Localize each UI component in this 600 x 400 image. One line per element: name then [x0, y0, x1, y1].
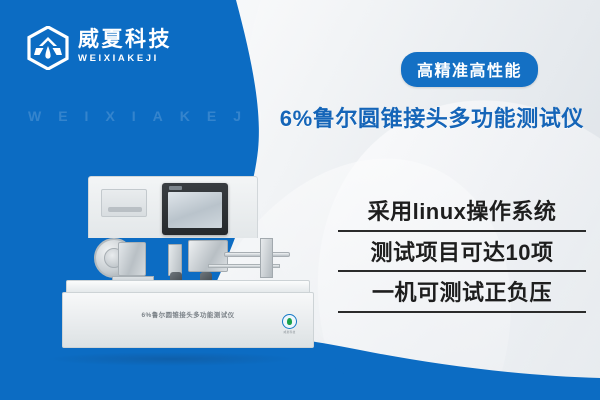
- machine-back-housing: [88, 176, 258, 238]
- brand-name-cn: 威夏科技: [78, 29, 172, 51]
- certification-seal: 威夏科技: [280, 313, 299, 335]
- feature-label: 采用linux操作系统: [338, 198, 586, 226]
- product-image: 6%鲁尔圆锥接头多功能测试仪 威夏科技: [62, 176, 314, 366]
- touch-panel-icon: [162, 183, 228, 235]
- brand-name-en: WEIXIAKEJI: [78, 52, 172, 66]
- highlight-badge: 高精准高性能: [401, 52, 538, 87]
- brand-watermark: WEIXIAKEJI: [28, 108, 279, 124]
- machine-side-plate: [101, 189, 147, 217]
- feature-label: 一机可测试正负压: [338, 279, 586, 307]
- test-rod-upper: [224, 252, 290, 257]
- promo-banner: WEIXIAKEJI 威夏科技 WEIXIAKEJI 高精准高性能 6%鲁尔圆锥…: [0, 0, 600, 400]
- screen-brand-strip: [169, 186, 182, 190]
- dial-body-block: [118, 242, 146, 276]
- feature-divider: [338, 270, 586, 272]
- brand-logo-text: 威夏科技 WEIXIAKEJI: [78, 29, 172, 66]
- feature-list: 采用linux操作系统 测试项目可达10项 一机可测试正负压: [338, 196, 586, 318]
- seal-ring-icon: [282, 314, 297, 329]
- feature-item: 一机可测试正负压: [338, 277, 586, 318]
- feature-label: 测试项目可达10项: [338, 239, 586, 267]
- hexagon-emblem-icon: [27, 26, 69, 70]
- screen-display: [168, 192, 222, 228]
- product-headline: 6%鲁尔圆锥接头多功能测试仪: [280, 101, 584, 133]
- clamp-right-post: [260, 238, 273, 278]
- seal-caption: 威夏科技: [284, 330, 296, 334]
- machine-base-cabinet: 6%鲁尔圆锥接头多功能测试仪 威夏科技: [62, 292, 314, 348]
- feature-item: 测试项目可达10项: [338, 237, 586, 278]
- brand-logo: 威夏科技 WEIXIAKEJI: [27, 26, 172, 70]
- feature-divider: [338, 230, 586, 232]
- feature-item: 采用linux操作系统: [338, 196, 586, 237]
- feature-divider: [338, 311, 586, 313]
- machine-front-label: 6%鲁尔圆锥接头多功能测试仪: [63, 309, 313, 319]
